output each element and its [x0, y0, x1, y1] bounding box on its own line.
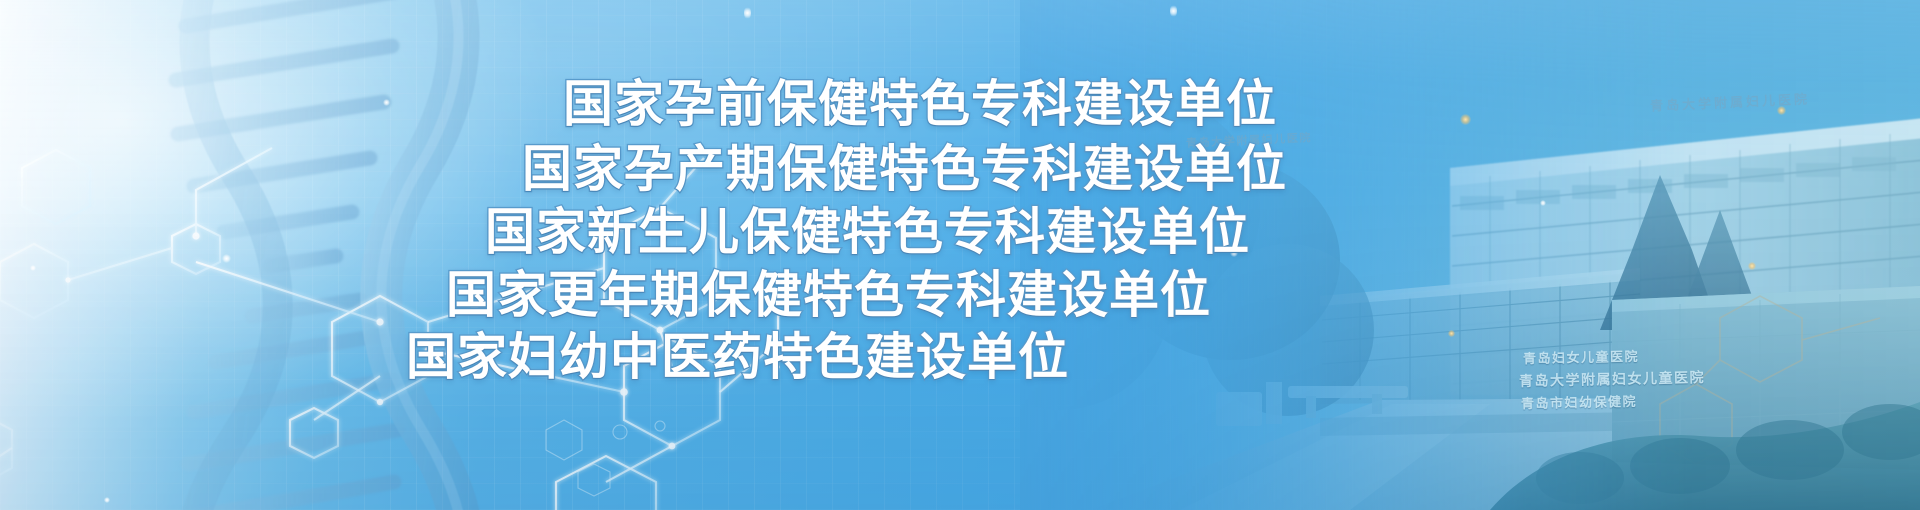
hospital-credentials-banner: 青岛大学附属妇儿医院 青岛大学附属妇儿医院 青岛妇女儿童医院 青岛大学附属妇女儿…: [0, 0, 1920, 510]
credential-line-1: 国家孕前保健特色专科建设单位: [563, 79, 1277, 129]
credential-line-3: 国家新生儿保健特色专科建设单位: [485, 207, 1250, 257]
credential-headlines: 国家孕前保健特色专科建设单位 国家孕产期保健特色专科建设单位 国家新生儿保健特色…: [0, 0, 1920, 510]
credential-line-4: 国家更年期保健特色专科建设单位: [446, 270, 1211, 320]
credential-line-5: 国家妇幼中医药特色建设单位: [406, 332, 1069, 382]
credential-line-2: 国家孕产期保健特色专科建设单位: [522, 144, 1287, 194]
